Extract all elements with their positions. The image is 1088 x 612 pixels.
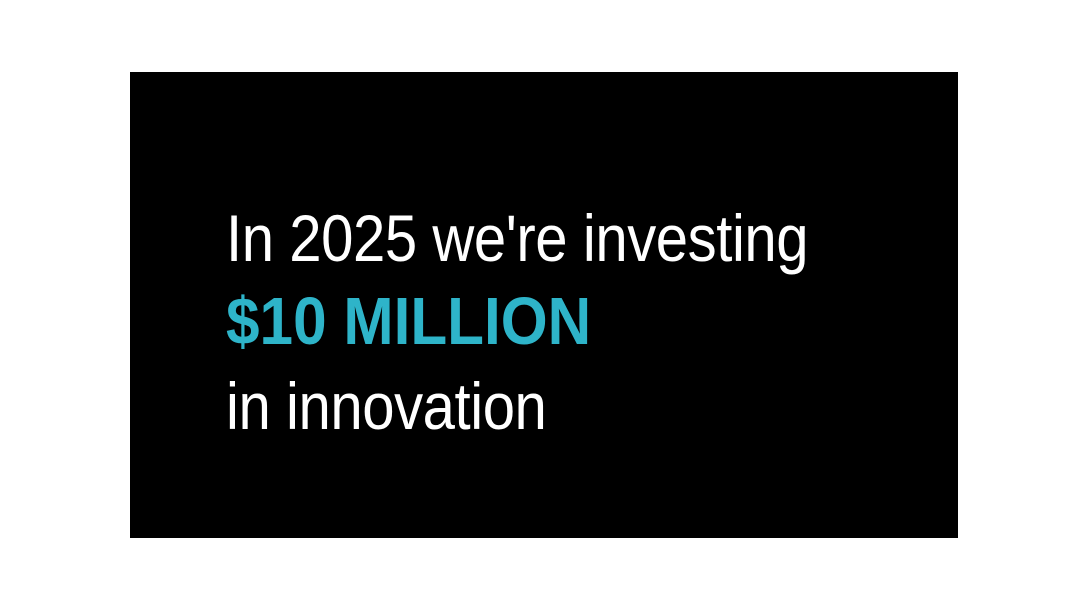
headline-line-2-amount: $10 MILLION: [226, 280, 856, 364]
headline-line-3: in innovation: [226, 364, 842, 448]
headline-block: In 2025 we're investing $10 MILLION in i…: [226, 196, 926, 448]
headline-line-1: In 2025 we're investing: [226, 196, 842, 280]
statement-panel: In 2025 we're investing $10 MILLION in i…: [130, 72, 958, 538]
page-canvas: In 2025 we're investing $10 MILLION in i…: [0, 0, 1088, 612]
